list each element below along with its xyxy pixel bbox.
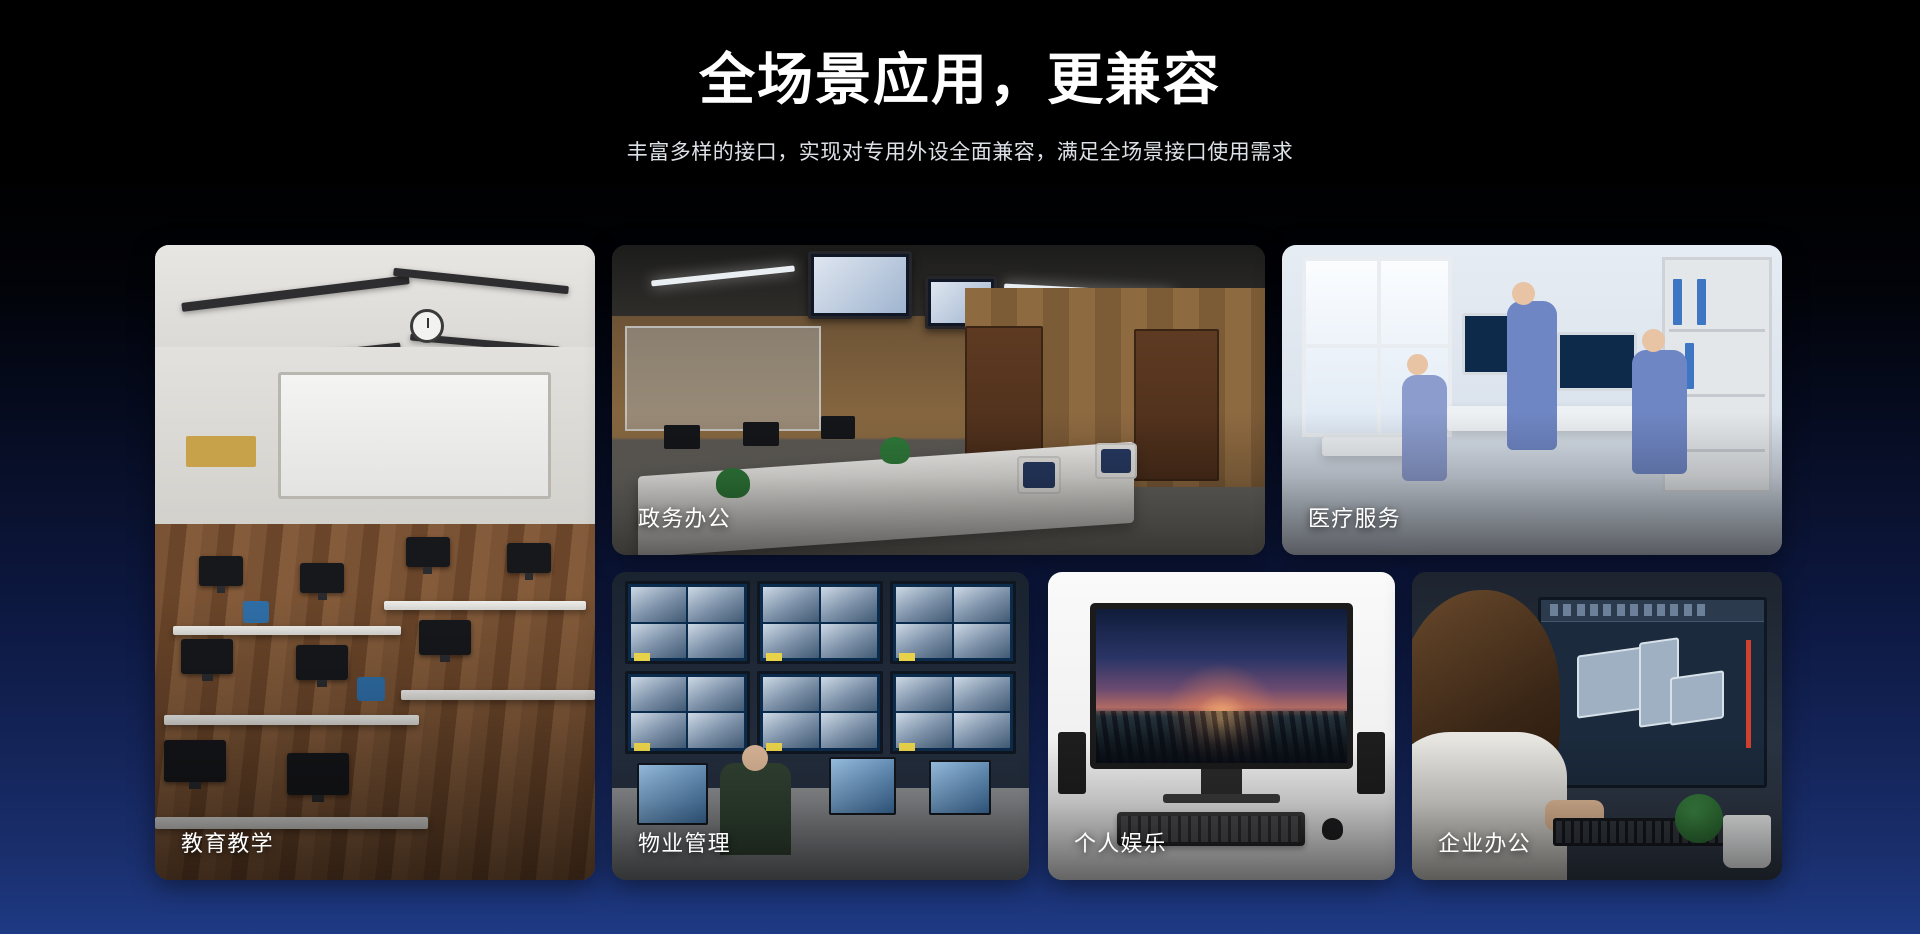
scenario-card-education[interactable]: 教育教学: [155, 245, 595, 880]
heading-block: 全场景应用，更兼容 丰富多样的接口，实现对专用外设全面兼容，满足全场景接口使用需…: [0, 48, 1920, 166]
card-caption-corporate: 企业办公: [1438, 826, 1531, 858]
hero-section: 全场景应用，更兼容 丰富多样的接口，实现对专用外设全面兼容，满足全场景接口使用需…: [0, 0, 1920, 934]
scenario-card-property[interactable]: 物业管理: [612, 572, 1029, 880]
page-title: 全场景应用，更兼容: [0, 48, 1920, 112]
card-caption-medical: 医疗服务: [1308, 501, 1401, 533]
card-caption-entertainment: 个人娱乐: [1074, 826, 1167, 858]
scenario-card-government[interactable]: 政务办公: [612, 245, 1265, 555]
card-caption-property: 物业管理: [638, 826, 731, 858]
scenario-card-entertainment[interactable]: 个人娱乐: [1048, 572, 1395, 880]
scenario-card-grid: 教育教学: [155, 245, 1782, 880]
card-caption-education: 教育教学: [181, 826, 274, 858]
classroom-scene-image: [155, 245, 595, 880]
page-subtitle: 丰富多样的接口，实现对专用外设全面兼容，满足全场景接口使用需求: [0, 136, 1920, 166]
scenario-card-medical[interactable]: 医疗服务: [1282, 245, 1782, 555]
scenario-card-corporate[interactable]: 企业办公: [1412, 572, 1782, 880]
card-caption-government: 政务办公: [638, 501, 731, 533]
